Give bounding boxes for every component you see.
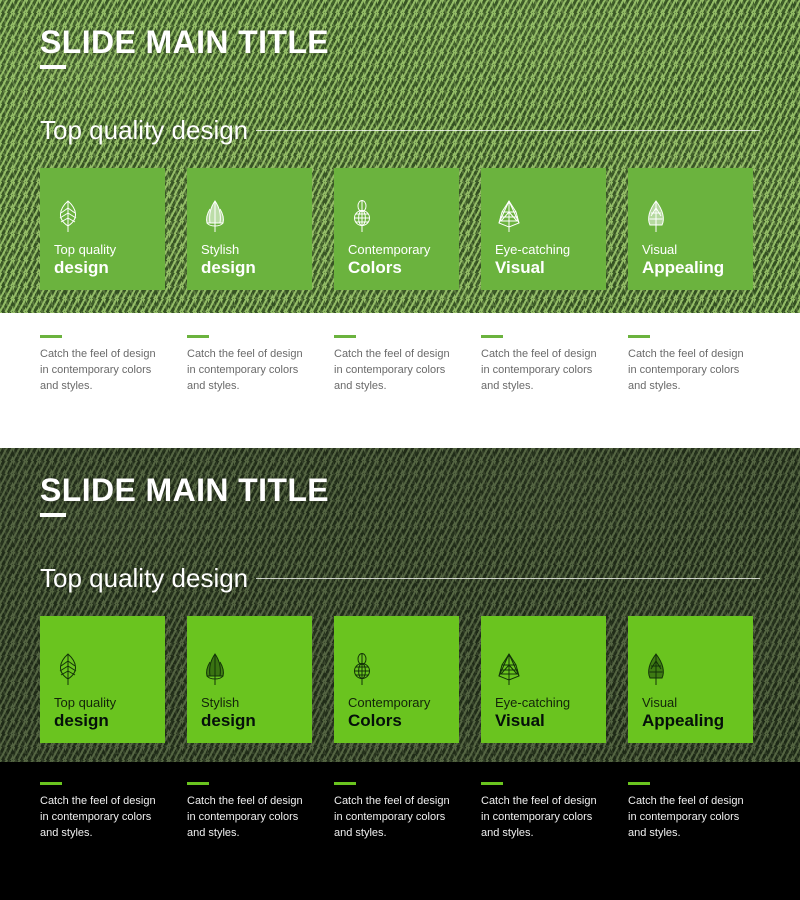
subtitle-hairline [256, 578, 760, 579]
caption-text: Catch the feel of design in contemporary… [628, 347, 753, 395]
caption-item: Catch the feel of design in contemporary… [187, 782, 312, 842]
feature-card[interactable]: Visual Appealing [628, 616, 753, 743]
feature-card-row: Top quality design [40, 168, 760, 290]
leaf-conifer-icon [495, 199, 592, 233]
card-kicker: Contemporary [348, 696, 445, 711]
card-heading: Appealing [642, 258, 739, 278]
caption-text: Catch the feel of design in contemporary… [481, 347, 606, 395]
caption-text: Catch the feel of design in contemporary… [40, 347, 165, 395]
globe-sphere-icon [348, 199, 445, 233]
feature-card[interactable]: Eye-catching Visual [481, 168, 606, 290]
card-heading: Colors [348, 711, 445, 731]
caption-item: Catch the feel of design in contemporary… [481, 335, 606, 395]
card-kicker: Eye-catching [495, 696, 592, 711]
card-kicker: Visual [642, 696, 739, 711]
card-kicker: Top quality [54, 243, 151, 258]
slide-preview-page: SLIDE MAIN TITLE Top quality design [0, 0, 800, 900]
caption-item: Catch the feel of design in contemporary… [334, 782, 459, 842]
caption-accent-rule [187, 335, 209, 338]
card-heading: Appealing [642, 711, 739, 731]
caption-strip-dark: Catch the feel of design in contemporary… [0, 762, 800, 900]
caption-text: Catch the feel of design in contemporary… [187, 794, 305, 842]
card-kicker: Contemporary [348, 243, 445, 258]
slide-hero-dark: SLIDE MAIN TITLE Top quality design [0, 448, 800, 762]
caption-item: Catch the feel of design in contemporary… [481, 782, 606, 842]
leaf-fan-icon [201, 652, 298, 686]
feature-card[interactable]: Stylish design [187, 168, 312, 290]
globe-sphere-icon [348, 652, 445, 686]
subtitle-row: Top quality design [40, 565, 760, 591]
caption-accent-rule [40, 782, 62, 785]
card-heading: design [201, 258, 298, 278]
caption-text: Catch the feel of design in contemporary… [334, 347, 459, 395]
caption-row: Catch the feel of design in contemporary… [40, 782, 760, 842]
card-heading: design [54, 711, 151, 731]
caption-text: Catch the feel of design in contemporary… [40, 794, 158, 842]
feature-card[interactable]: Visual Appealing [628, 168, 753, 290]
card-heading: design [54, 258, 151, 278]
subtitle-hairline [256, 130, 760, 131]
caption-item: Catch the feel of design in contemporary… [187, 335, 312, 395]
slide-subtitle: Top quality design [40, 565, 248, 591]
caption-item: Catch the feel of design in contemporary… [40, 782, 165, 842]
caption-row: Catch the feel of design in contemporary… [40, 335, 760, 395]
feature-card[interactable]: Top quality design [40, 616, 165, 743]
leaf-veined-icon [54, 652, 151, 686]
card-heading: Visual [495, 258, 592, 278]
card-heading: Colors [348, 258, 445, 278]
caption-accent-rule [187, 782, 209, 785]
caption-item: Catch the feel of design in contemporary… [334, 335, 459, 395]
caption-strip-light: Catch the feel of design in contemporary… [0, 313, 800, 448]
feature-card[interactable]: Contemporary Colors [334, 616, 459, 743]
feature-card[interactable]: Contemporary Colors [334, 168, 459, 290]
caption-text: Catch the feel of design in contemporary… [628, 794, 746, 842]
title-underline-accent [40, 65, 66, 69]
slide-light: SLIDE MAIN TITLE Top quality design [0, 0, 800, 448]
card-kicker: Eye-catching [495, 243, 592, 258]
feature-card-row: Top quality design [40, 616, 760, 743]
card-kicker: Top quality [54, 696, 151, 711]
subtitle-row: Top quality design [40, 117, 760, 143]
caption-accent-rule [628, 782, 650, 785]
slide-dark: SLIDE MAIN TITLE Top quality design [0, 448, 800, 900]
caption-item: Catch the feel of design in contemporary… [628, 782, 753, 842]
card-kicker: Stylish [201, 243, 298, 258]
slide-hero-light: SLIDE MAIN TITLE Top quality design [0, 0, 800, 313]
leaf-pointed-icon [642, 652, 739, 686]
caption-text: Catch the feel of design in contemporary… [334, 794, 452, 842]
caption-accent-rule [40, 335, 62, 338]
caption-text: Catch the feel of design in contemporary… [187, 347, 312, 395]
caption-accent-rule [628, 335, 650, 338]
card-heading: Visual [495, 711, 592, 731]
leaf-veined-icon [54, 199, 151, 233]
caption-item: Catch the feel of design in contemporary… [628, 335, 753, 395]
slide-subtitle: Top quality design [40, 117, 248, 143]
feature-card[interactable]: Eye-catching Visual [481, 616, 606, 743]
title-underline-accent [40, 513, 66, 517]
feature-card[interactable]: Top quality design [40, 168, 165, 290]
card-kicker: Visual [642, 243, 739, 258]
leaf-pointed-icon [642, 199, 739, 233]
caption-accent-rule [334, 782, 356, 785]
caption-accent-rule [481, 335, 503, 338]
page-title: SLIDE MAIN TITLE [40, 474, 760, 506]
caption-accent-rule [334, 335, 356, 338]
caption-text: Catch the feel of design in contemporary… [481, 794, 599, 842]
card-heading: design [201, 711, 298, 731]
card-kicker: Stylish [201, 696, 298, 711]
caption-item: Catch the feel of design in contemporary… [40, 335, 165, 395]
leaf-fan-icon [201, 199, 298, 233]
feature-card[interactable]: Stylish design [187, 616, 312, 743]
page-title: SLIDE MAIN TITLE [40, 26, 760, 58]
caption-accent-rule [481, 782, 503, 785]
leaf-conifer-icon [495, 652, 592, 686]
